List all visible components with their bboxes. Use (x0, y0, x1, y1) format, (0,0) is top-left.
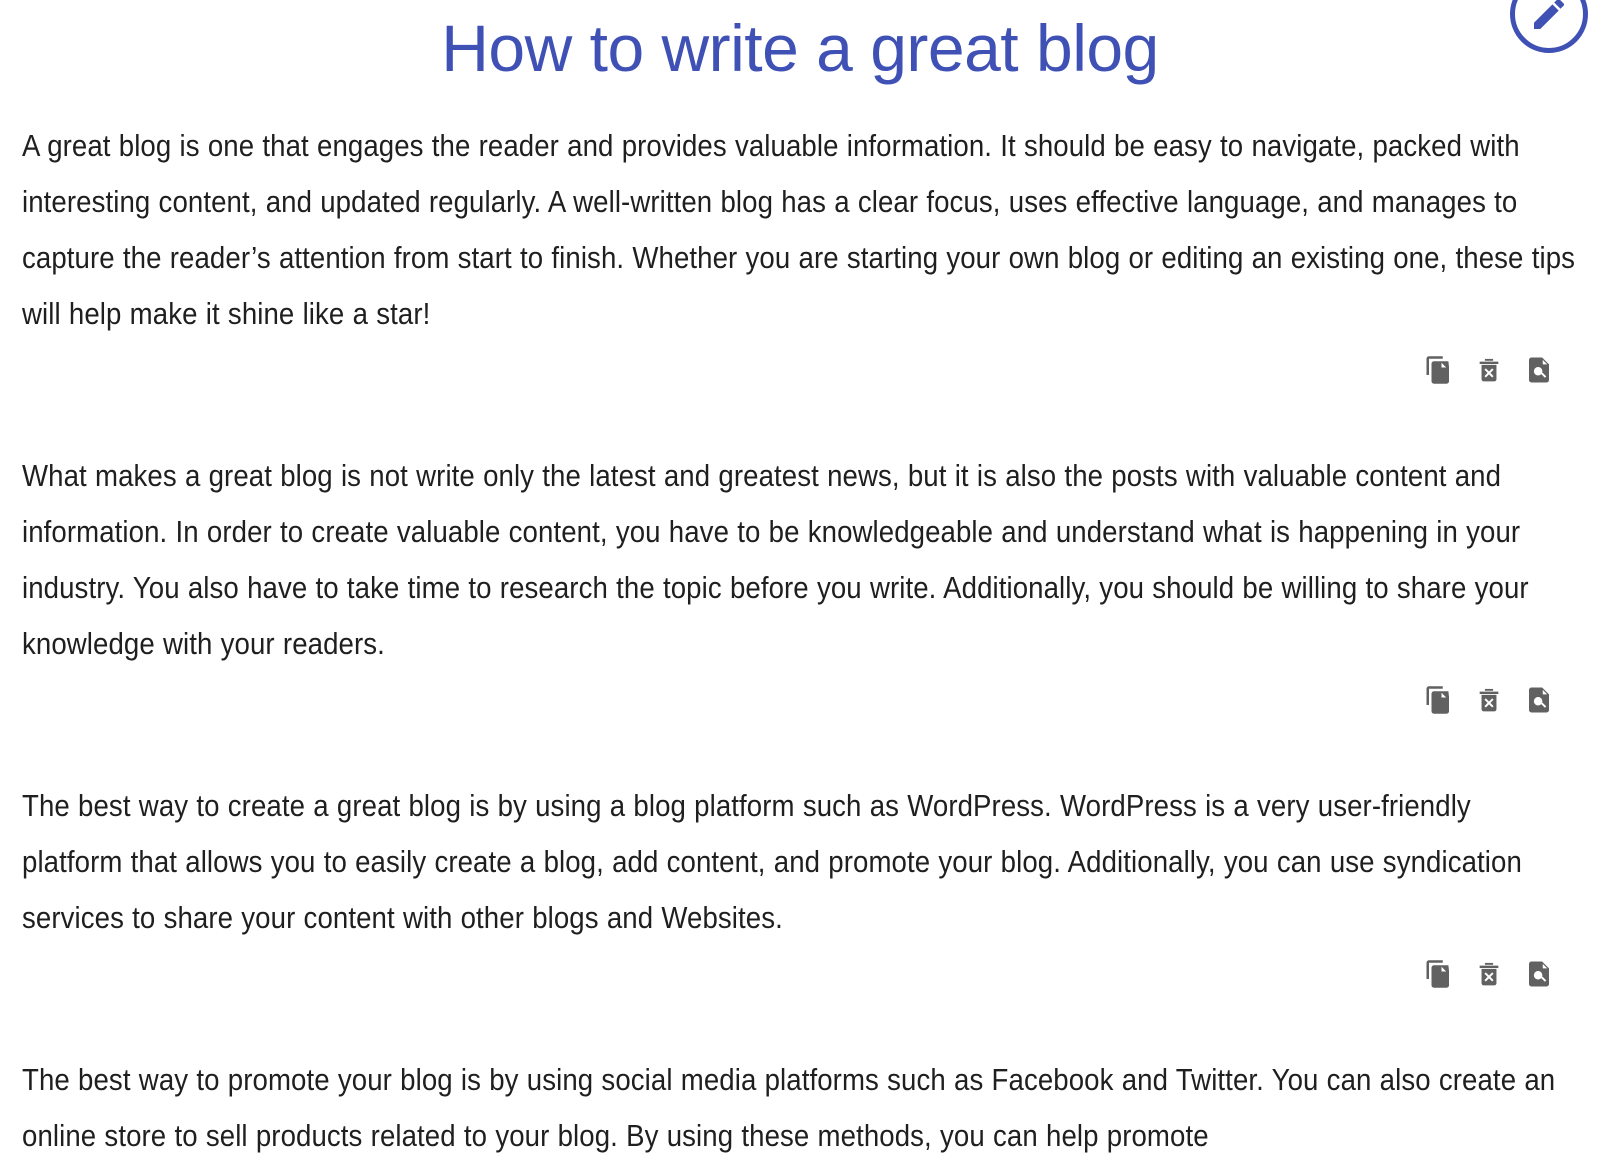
copy-icon[interactable] (1422, 353, 1456, 387)
document-search-icon[interactable] (1522, 957, 1556, 991)
block-action-toolbar (22, 674, 1578, 726)
content-block: The best way to promote your blog is by … (22, 1052, 1578, 1164)
block-spacer (22, 396, 1578, 448)
delete-icon[interactable] (1472, 683, 1506, 717)
document-search-icon[interactable] (1522, 683, 1556, 717)
page-title: How to write a great blog (0, 2, 1600, 94)
content-block: What makes a great blog is not write onl… (22, 448, 1578, 726)
delete-icon[interactable] (1472, 353, 1506, 387)
blog-editor-page: How to write a great blog A great blog i… (0, 0, 1600, 1125)
delete-icon[interactable] (1472, 957, 1506, 991)
copy-icon[interactable] (1422, 683, 1456, 717)
block-action-toolbar (22, 344, 1578, 396)
content-block: The best way to create a great blog is b… (22, 778, 1578, 1000)
paragraph-text: A great blog is one that engages the rea… (22, 118, 1578, 342)
copy-icon[interactable] (1422, 957, 1456, 991)
block-spacer (22, 1000, 1578, 1052)
block-action-toolbar (22, 948, 1578, 1000)
document-search-icon[interactable] (1522, 353, 1556, 387)
document-body: A great blog is one that engages the rea… (22, 118, 1578, 1164)
paragraph-text: The best way to create a great blog is b… (22, 778, 1578, 946)
pencil-edit-icon (1529, 0, 1569, 34)
block-spacer (22, 726, 1578, 778)
paragraph-text: The best way to promote your blog is by … (22, 1052, 1578, 1164)
paragraph-text: What makes a great blog is not write onl… (22, 448, 1578, 672)
content-block: A great blog is one that engages the rea… (22, 118, 1578, 396)
